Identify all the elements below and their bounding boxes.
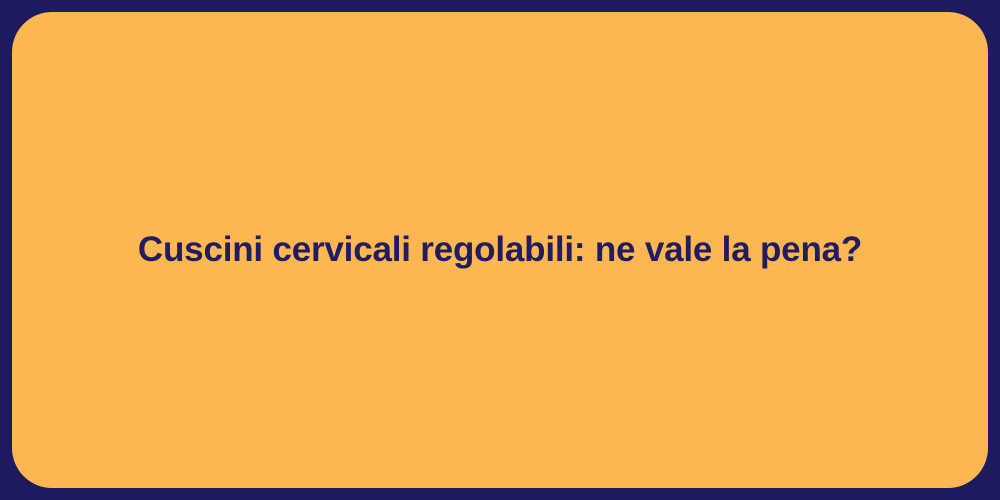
banner-card: Cuscini cervicali regolabili: ne vale la… — [12, 12, 988, 488]
banner-content: Cuscini cervicali regolabili: ne vale la… — [12, 228, 988, 272]
banner-title: Cuscini cervicali regolabili: ne vale la… — [138, 228, 862, 272]
banner-frame: Cuscini cervicali regolabili: ne vale la… — [0, 0, 1000, 500]
